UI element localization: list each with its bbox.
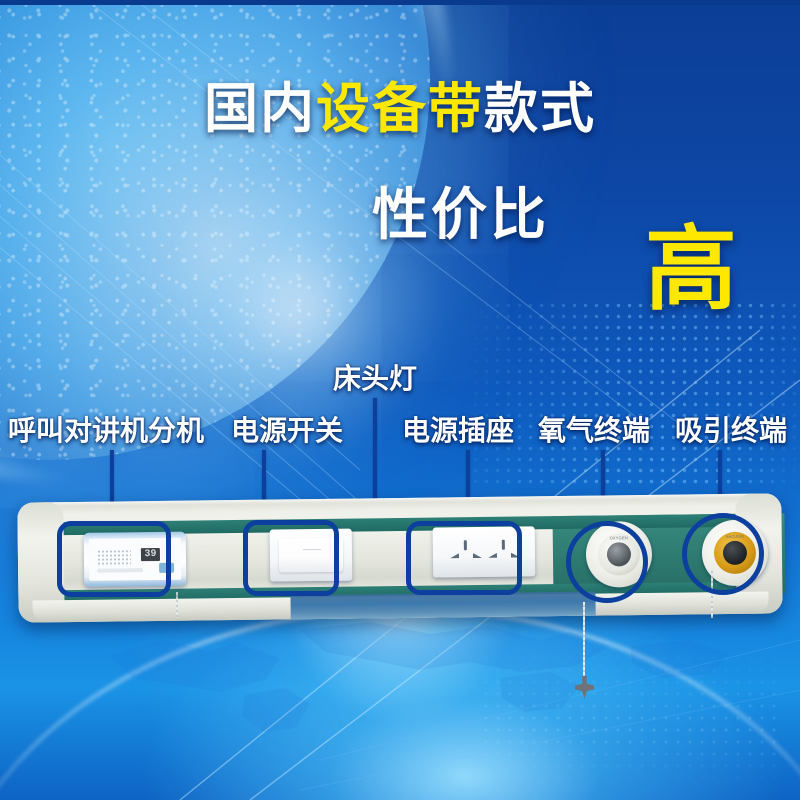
headline-segment-white-2: 款式 bbox=[484, 79, 596, 139]
halftone-dot-pattern bbox=[470, 300, 800, 490]
pull-cord-line[interactable] bbox=[583, 602, 585, 680]
callout-nurse-call-intercom: 呼叫对讲机分机 bbox=[8, 409, 204, 449]
headline-segment-yellow: 设备带 bbox=[316, 79, 484, 139]
headline-block: 国内设备带款式 性价比 高 bbox=[0, 82, 800, 136]
callout-oxygen-terminal: 氧气终端 bbox=[538, 409, 650, 449]
halftone-dot-pattern-lower bbox=[480, 640, 780, 790]
callout-power-switch: 电源开关 bbox=[231, 409, 343, 449]
headline-line-1: 国内设备带款式 bbox=[0, 82, 800, 136]
headline-emphasis-char: 高 bbox=[645, 224, 737, 316]
headline-segment-white-1: 国内 bbox=[204, 79, 316, 139]
highlight-box-socket bbox=[406, 521, 522, 595]
promo-image-canvas: 国内设备带款式 性价比 高 呼叫对讲机分机 电源开关 床头灯 电源插座 氧气终端… bbox=[0, 0, 800, 800]
panel-rail-blue-reflection bbox=[290, 592, 595, 620]
highlight-box-switch bbox=[243, 520, 339, 596]
headline-line-2: 性价比 bbox=[372, 170, 549, 251]
highlight-circle-oxygen bbox=[566, 521, 648, 603]
highlight-circle-suction bbox=[682, 513, 764, 595]
callout-bed-lamp: 床头灯 bbox=[333, 357, 417, 397]
highlight-box-intercom bbox=[57, 521, 171, 597]
callout-suction-terminal: 吸引终端 bbox=[675, 409, 787, 449]
intercom-cord bbox=[176, 592, 178, 618]
top-edge-band bbox=[0, 0, 800, 5]
callout-power-socket: 电源插座 bbox=[402, 409, 514, 449]
